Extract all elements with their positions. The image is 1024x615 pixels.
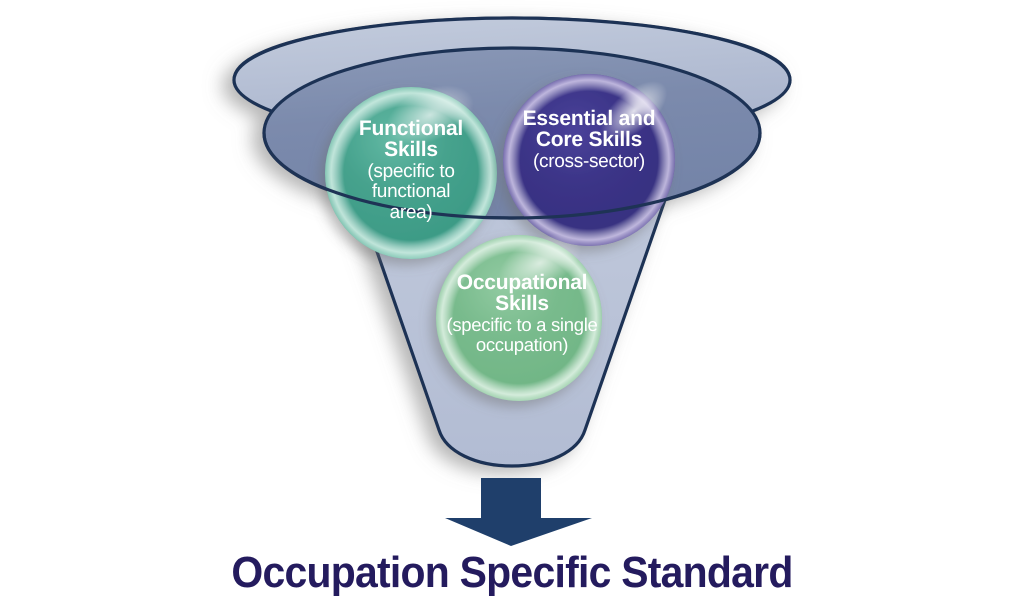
down-arrow — [445, 478, 592, 546]
diagram-root: Functional Skills (specific to functiona… — [0, 0, 1024, 615]
funnel-diagram-svg — [0, 0, 1024, 615]
diagram-caption: Occupation Specific Standard — [36, 548, 988, 598]
